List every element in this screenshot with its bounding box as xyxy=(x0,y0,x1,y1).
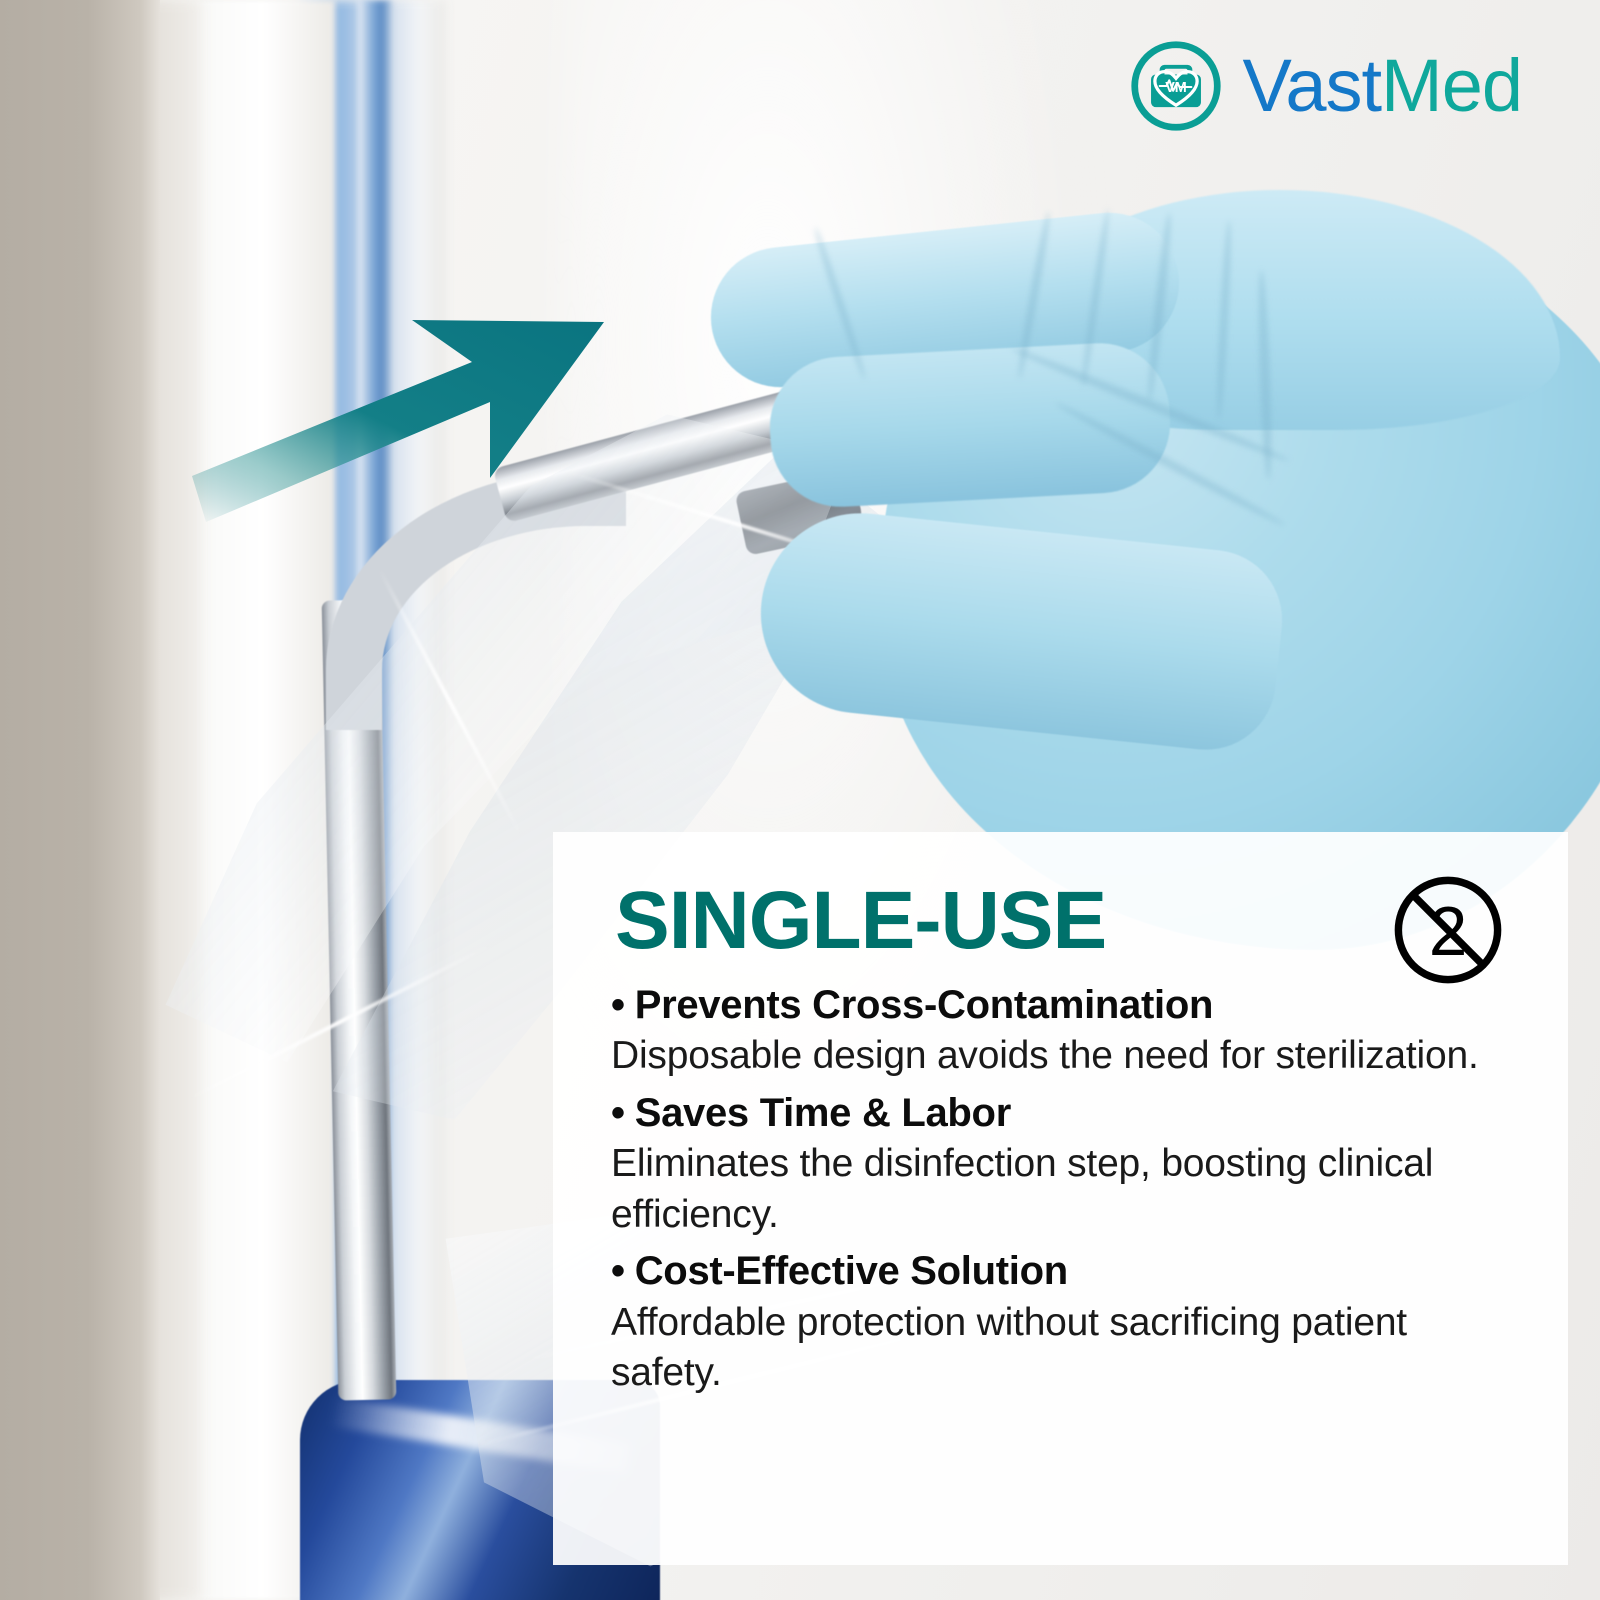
benefit-heading-text: Prevents Cross-Contamination xyxy=(635,983,1213,1027)
page-title: SINGLE-USE xyxy=(615,880,1106,962)
info-panel: SINGLE-USE 2 •Prevents Cross-Contaminati… xyxy=(553,832,1568,1565)
benefit-heading-text: Cost-Effective Solution xyxy=(635,1249,1068,1293)
poster-canvas: VM VastMed SINGLE-USE 2 •Prevents Cross-… xyxy=(0,0,1600,1600)
benefit-body: Eliminates the disinfection step, boosti… xyxy=(611,1139,1519,1240)
benefit-heading: •Prevents Cross-Contamination xyxy=(611,982,1519,1029)
brand-name-part1: Vast xyxy=(1242,44,1381,127)
svg-text:VM: VM xyxy=(1166,80,1188,96)
brand-wordmark: VastMed xyxy=(1242,49,1522,123)
brand-name-part2: Med xyxy=(1381,44,1522,127)
bullet-dot: • xyxy=(611,1249,625,1293)
do-not-reuse-icon: 2 xyxy=(1386,868,1510,992)
benefit-heading-text: Saves Time & Labor xyxy=(635,1091,1011,1135)
arrow-up-right-icon xyxy=(190,290,610,530)
wall-left xyxy=(0,0,160,1600)
brand-logo[interactable]: VM VastMed xyxy=(1128,38,1522,134)
benefit-body: Affordable protection without sacrificin… xyxy=(611,1298,1519,1399)
list-item: •Saves Time & Labor Eliminates the disin… xyxy=(611,1090,1519,1241)
list-item: •Cost-Effective Solution Affordable prot… xyxy=(611,1248,1519,1399)
benefit-heading: •Saves Time & Labor xyxy=(611,1090,1519,1137)
benefit-body: Disposable design avoids the need for st… xyxy=(611,1031,1519,1082)
bullet-dot: • xyxy=(611,983,625,1027)
benefit-heading: •Cost-Effective Solution xyxy=(611,1248,1519,1295)
medical-bag-heart-vm-icon: VM xyxy=(1128,38,1224,134)
list-item: •Prevents Cross-Contamination Disposable… xyxy=(611,982,1519,1082)
glove-middle-finger xyxy=(766,340,1173,511)
benefits-list: •Prevents Cross-Contamination Disposable… xyxy=(611,982,1519,1407)
bullet-dot: • xyxy=(611,1091,625,1135)
